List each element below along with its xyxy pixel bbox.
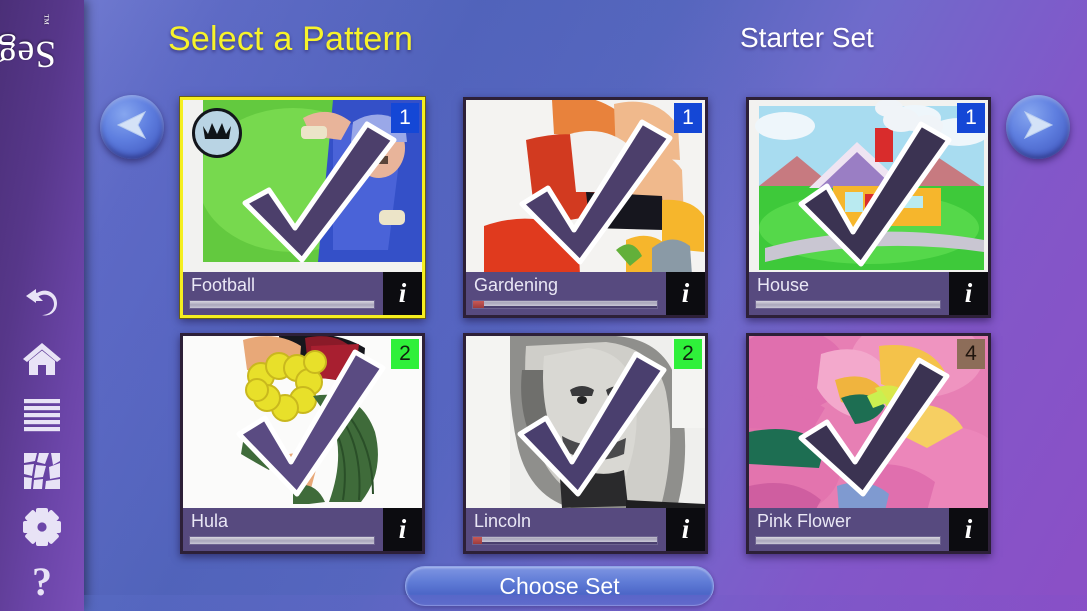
svg-text:?: ? [32, 563, 52, 603]
bottom-strip [84, 595, 1087, 611]
progress-fill [756, 301, 940, 308]
progress-fill [756, 537, 940, 544]
progress-bar [472, 536, 658, 545]
crown-icon [202, 120, 232, 147]
info-icon: i [682, 516, 690, 543]
help-icon: ? [26, 563, 58, 603]
progress-fill [190, 301, 374, 308]
pattern-thumbnail: 2 [466, 336, 705, 511]
artwork-house [749, 100, 988, 275]
artwork-lincoln [466, 336, 705, 511]
progress-fill-recent [473, 301, 484, 308]
progress-bar [189, 300, 375, 309]
info-button[interactable]: i [949, 272, 988, 315]
progress-fill-recent [473, 537, 482, 544]
card-footer-main: Football [183, 272, 383, 315]
card-footer-main: Gardening [466, 272, 666, 315]
info-icon: i [399, 280, 407, 307]
gear-icon [23, 508, 61, 546]
info-button[interactable]: i [383, 508, 422, 551]
progress-fill [482, 536, 657, 542]
premium-crown-badge [192, 108, 242, 158]
card-footer-main: Hula [183, 508, 383, 551]
difficulty-badge: 1 [674, 103, 702, 133]
difficulty-badge: 2 [391, 339, 419, 369]
card-footer: Lincoln i [466, 508, 705, 551]
pattern-card-house[interactable]: 1 House i [746, 97, 991, 318]
info-button[interactable]: i [383, 272, 422, 315]
brand-trademark: ™ [39, 14, 51, 25]
info-icon: i [965, 516, 973, 543]
pattern-card-gardening[interactable]: 1 Gardening i [463, 97, 708, 318]
difficulty-badge: 2 [674, 339, 702, 369]
card-footer: Pink Flower i [749, 508, 988, 551]
sidebar: Segmation™ [0, 0, 84, 611]
sidebar-item-help[interactable]: ? [0, 555, 84, 611]
pattern-card-lincoln[interactable]: 2 Lincoln i [463, 333, 708, 554]
progress-bar [755, 300, 941, 309]
progress-bar [472, 300, 658, 309]
info-icon: i [682, 280, 690, 307]
chevron-right-icon [1021, 110, 1055, 145]
pattern-card-football[interactable]: 1 Football i [180, 97, 425, 318]
difficulty-badge: 4 [957, 339, 985, 369]
chevron-left-icon [115, 110, 149, 145]
brand-logo: Segmation™ [0, 8, 84, 258]
app-window: Segmation™ [0, 0, 1087, 611]
card-footer-main: House [749, 272, 949, 315]
pattern-thumbnail: 2 [183, 336, 422, 511]
card-title: Lincoln [474, 510, 666, 533]
home-icon [21, 340, 63, 378]
card-footer-main: Pink Flower [749, 508, 949, 551]
card-title: Gardening [474, 274, 666, 297]
pattern-thumbnail: 4 [749, 336, 988, 511]
sidebar-item-patterns[interactable] [0, 443, 84, 499]
sidebar-item-settings[interactable] [0, 499, 84, 555]
card-title: Pink Flower [757, 510, 949, 533]
pattern-icon [23, 452, 61, 490]
next-set-button[interactable] [1006, 95, 1070, 159]
difficulty-badge: 1 [391, 103, 419, 133]
pattern-card-pink-flower[interactable]: 4 Pink Flower i [746, 333, 991, 554]
info-icon: i [965, 280, 973, 307]
progress-bar [189, 536, 375, 545]
card-footer: Gardening i [466, 272, 705, 315]
sidebar-item-home[interactable] [0, 331, 84, 387]
progress-fill [190, 537, 374, 544]
pattern-thumbnail: 1 [183, 100, 422, 275]
card-title: House [757, 274, 949, 297]
difficulty-badge: 1 [957, 103, 985, 133]
pattern-thumbnail: 1 [749, 100, 988, 275]
card-title: Hula [191, 510, 383, 533]
sidebar-item-list[interactable] [0, 387, 84, 443]
pattern-thumbnail: 1 [466, 100, 705, 275]
list-icon [23, 397, 61, 433]
card-footer: Hula i [183, 508, 422, 551]
info-button[interactable]: i [949, 508, 988, 551]
page-title: Select a Pattern [168, 20, 413, 59]
sidebar-item-undo[interactable] [0, 275, 84, 331]
info-icon: i [399, 516, 407, 543]
brand-text: Segmation [0, 32, 56, 76]
progress-bar [755, 536, 941, 545]
artwork-pink-flower [749, 336, 988, 511]
sidebar-icon-list: ? [0, 275, 84, 611]
info-button[interactable]: i [666, 508, 705, 551]
undo-icon [22, 285, 62, 321]
card-title: Football [191, 274, 383, 297]
set-name-label: Starter Set [740, 22, 874, 54]
info-button[interactable]: i [666, 272, 705, 315]
pattern-card-hula[interactable]: 2 Hula i [180, 333, 425, 554]
progress-fill [484, 300, 657, 306]
card-footer: House i [749, 272, 988, 315]
artwork-gardening [466, 100, 705, 275]
prev-set-button[interactable] [100, 95, 164, 159]
artwork-hula [183, 336, 422, 511]
card-footer-main: Lincoln [466, 508, 666, 551]
card-footer: Football i [183, 272, 422, 315]
